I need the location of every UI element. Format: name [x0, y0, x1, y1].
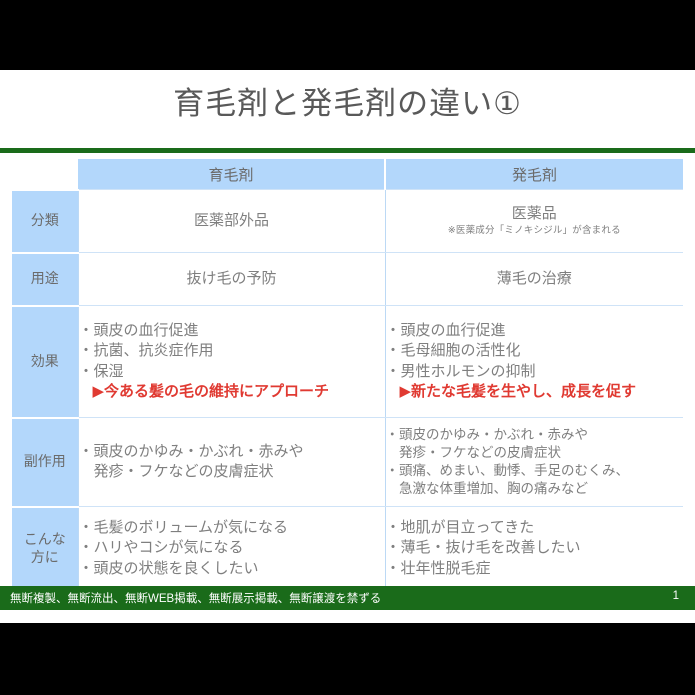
footer-notice: 無断複製、無断流出、無断WEB掲載、無断展示掲載、無断譲渡を禁ずる: [10, 590, 381, 606]
cell-line: ・頭痛、めまい、動悸、手足のむくみ、: [386, 462, 684, 480]
cell-text: 薄毛の治療: [386, 269, 684, 289]
cell-youto-left: 抜け毛の予防: [78, 253, 385, 306]
cell-note: ※医薬成分「ミノキシジル」が含まれる: [386, 225, 684, 238]
cell-line: ・地肌が目立ってきた: [386, 518, 684, 538]
cell-line: ・男性ホルモンの抑制: [386, 362, 684, 382]
cell-line: ・頭皮の血行促進: [79, 321, 385, 341]
cell-line: 発疹・フケなどの皮膚症状: [386, 444, 684, 462]
cell-line: ・薄毛・抜け毛を改善したい: [386, 538, 684, 558]
cell-konnakatani-left: ・毛髪のボリュームが気になる ・ハリやコシが気になる ・頭皮の状態を良くしたい: [78, 507, 385, 591]
title-divider-rule: [0, 148, 695, 153]
cell-highlight: ▶新たな毛髪を生やし、成長を促す: [386, 382, 684, 402]
cell-text: 医薬部外品: [79, 211, 385, 231]
row-label-line: 方に: [12, 549, 78, 567]
row-label-fukusayou: 副作用: [12, 418, 78, 507]
cell-line: ・毛髪のボリュームが気になる: [79, 518, 385, 538]
cell-line: ・頭皮のかゆみ・かぶれ・赤みや: [386, 426, 684, 444]
table-row: 分類 医薬部外品 医薬品 ※医薬成分「ミノキシジル」が含まれる: [12, 190, 683, 253]
table-header-row: 育毛剤 発毛剤: [12, 159, 683, 190]
cell-kouka-right: ・頭皮の血行促進 ・毛母細胞の活性化 ・男性ホルモンの抑制 ▶新たな毛髪を生やし…: [385, 306, 683, 418]
cell-line: 発疹・フケなどの皮膚症状: [79, 462, 385, 482]
cell-line: ・頭皮のかゆみ・かぶれ・赤みや: [79, 442, 385, 462]
column-header-hatsumouzai: 発毛剤: [385, 159, 683, 190]
row-label-youto: 用途: [12, 253, 78, 306]
cell-text: 医薬品: [386, 204, 684, 224]
cell-fukusayou-left: ・頭皮のかゆみ・かぶれ・赤みや 発疹・フケなどの皮膚症状: [78, 418, 385, 507]
table-row: こんな 方に ・毛髪のボリュームが気になる ・ハリやコシが気になる ・頭皮の状態…: [12, 507, 683, 591]
cell-line: 急激な体重増加、胸の痛みなど: [386, 480, 684, 498]
cell-bunrui-right: 医薬品 ※医薬成分「ミノキシジル」が含まれる: [385, 190, 683, 253]
cell-line: ・抗菌、抗炎症作用: [79, 341, 385, 361]
cell-line: ・毛母細胞の活性化: [386, 341, 684, 361]
cell-konnakatani-right: ・地肌が目立ってきた ・薄毛・抜け毛を改善したい ・壮年性脱毛症: [385, 507, 683, 591]
page-title: 育毛剤と発毛剤の違い①: [0, 78, 695, 123]
row-label-konnakatani: こんな 方に: [12, 507, 78, 591]
table-row: 効果 ・頭皮の血行促進 ・抗菌、抗炎症作用 ・保湿 ▶今ある髪の毛の維持にアプロ…: [12, 306, 683, 418]
comparison-table: 育毛剤 発毛剤 分類 医薬部外品 医薬品 ※医薬成分「ミノキシジル」が含まれる …: [12, 159, 683, 592]
cell-line: ・壮年性脱毛症: [386, 559, 684, 579]
cell-line: ・保湿: [79, 362, 385, 382]
slide-canvas: 育毛剤と発毛剤の違い① 育毛剤 発毛剤 分類 医薬部外品 医薬品 ※医薬成分「ミ…: [0, 70, 695, 623]
row-label-kouka: 効果: [12, 306, 78, 418]
cell-line: ・ハリやコシが気になる: [79, 538, 385, 558]
column-header-ikumouzai: 育毛剤: [78, 159, 385, 190]
table-row: 副作用 ・頭皮のかゆみ・かぶれ・赤みや 発疹・フケなどの皮膚症状 ・頭皮のかゆみ…: [12, 418, 683, 507]
cell-fukusayou-right: ・頭皮のかゆみ・かぶれ・赤みや 発疹・フケなどの皮膚症状 ・頭痛、めまい、動悸、…: [385, 418, 683, 507]
cell-text: 抜け毛の予防: [79, 269, 385, 289]
table-row: 用途 抜け毛の予防 薄毛の治療: [12, 253, 683, 306]
row-label-line: こんな: [12, 531, 78, 549]
cell-kouka-left: ・頭皮の血行促進 ・抗菌、抗炎症作用 ・保湿 ▶今ある髪の毛の維持にアプローチ: [78, 306, 385, 418]
row-label-bunrui: 分類: [12, 190, 78, 253]
cell-line: ・頭皮の血行促進: [386, 321, 684, 341]
cell-highlight: ▶今ある髪の毛の維持にアプローチ: [79, 382, 385, 402]
footer-bar: 無断複製、無断流出、無断WEB掲載、無断展示掲載、無断譲渡を禁ずる 1: [0, 586, 695, 610]
footer-page-number: 1: [673, 590, 679, 602]
cell-line: ・頭皮の状態を良くしたい: [79, 559, 385, 579]
cell-youto-right: 薄毛の治療: [385, 253, 683, 306]
header-corner-blank: [12, 159, 78, 190]
cell-bunrui-left: 医薬部外品: [78, 190, 385, 253]
